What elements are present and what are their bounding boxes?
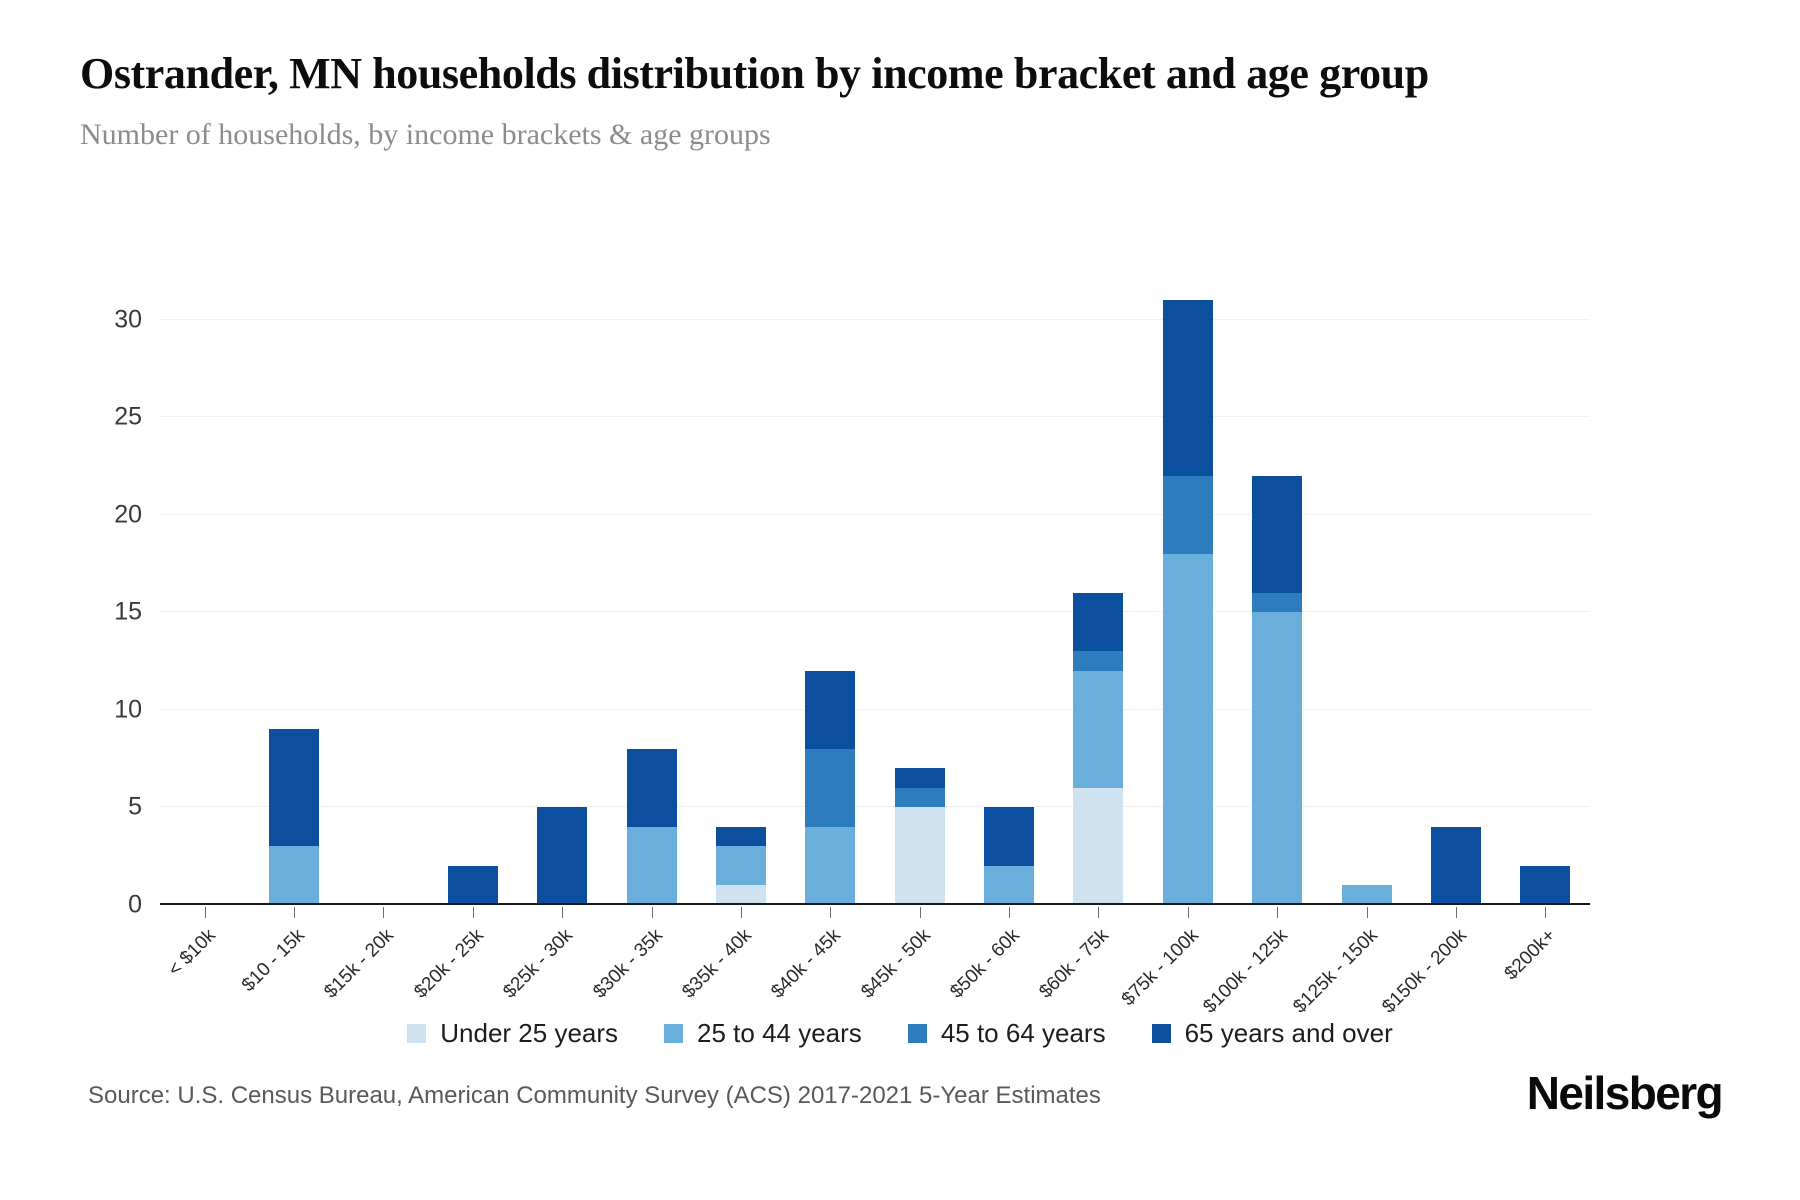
x-axis-tick-label: $200k+	[1501, 925, 1561, 985]
x-axis-tick: $30k - 35k	[607, 907, 696, 1027]
x-axis-tick: $60k - 75k	[1054, 907, 1143, 1027]
bar-slot[interactable]	[339, 300, 428, 905]
y-axis-tick-label: 20	[114, 500, 142, 529]
y-axis-tick-label: 10	[114, 695, 142, 724]
x-axis-tick: $15k - 20k	[339, 907, 428, 1027]
legend-label: 45 to 64 years	[941, 1018, 1106, 1049]
tick-mark	[1098, 907, 1099, 918]
tick-mark	[383, 907, 384, 918]
bar-segment[interactable]	[269, 729, 319, 846]
tick-mark	[652, 907, 653, 918]
bar-slot[interactable]	[1322, 300, 1411, 905]
bar-segment[interactable]	[537, 807, 587, 905]
bar-segment[interactable]	[805, 827, 855, 905]
bar-stack[interactable]	[627, 749, 677, 905]
legend-label: Under 25 years	[440, 1018, 618, 1049]
tick-mark	[294, 907, 295, 918]
y-axis-tick-label: 25	[114, 403, 142, 432]
tick-mark	[1188, 907, 1189, 918]
bar-stack[interactable]	[1431, 827, 1481, 905]
bar-segment[interactable]	[1252, 612, 1302, 905]
x-axis-line	[160, 903, 1590, 905]
bar-segment[interactable]	[269, 846, 319, 905]
bar-segment[interactable]	[1073, 788, 1123, 905]
legend-label: 25 to 44 years	[697, 1018, 862, 1049]
x-axis-tick: $200k+	[1501, 907, 1590, 1027]
plot-area: 051015202530	[160, 300, 1590, 905]
bar-slot[interactable]	[428, 300, 517, 905]
x-axis-tick: < $10k	[160, 907, 249, 1027]
tick-mark	[920, 907, 921, 918]
bar-stack[interactable]	[1073, 593, 1123, 905]
bar-segment[interactable]	[895, 788, 945, 808]
bar-segment[interactable]	[984, 866, 1034, 905]
bar-stack[interactable]	[716, 827, 766, 905]
page-title: Ostrander, MN households distribution by…	[80, 48, 1640, 100]
bar-stack[interactable]	[1520, 866, 1570, 905]
bar-segment[interactable]	[1073, 671, 1123, 788]
bar-slot[interactable]	[696, 300, 785, 905]
bar-segment[interactable]	[1073, 593, 1123, 652]
bar-segment[interactable]	[716, 846, 766, 885]
bar-segment[interactable]	[1163, 476, 1213, 554]
chart-header: Ostrander, MN households distribution by…	[80, 48, 1640, 152]
bar-stack[interactable]	[895, 768, 945, 905]
legend-item[interactable]: 45 to 64 years	[908, 1018, 1106, 1049]
legend-swatch-icon	[407, 1024, 426, 1043]
x-axis-tick: $10 - 15k	[249, 907, 338, 1027]
bar-slot[interactable]	[249, 300, 338, 905]
bar-segment[interactable]	[805, 671, 855, 749]
bar-slot[interactable]	[1143, 300, 1232, 905]
tick-mark	[830, 907, 831, 918]
x-axis-labels: < $10k$10 - 15k$15k - 20k$20k - 25k$25k …	[160, 907, 1590, 1027]
bar-stack[interactable]	[1163, 300, 1213, 905]
chart-subtitle: Number of households, by income brackets…	[80, 118, 1640, 152]
bar-segment[interactable]	[1163, 300, 1213, 476]
legend-item[interactable]: 65 years and over	[1152, 1018, 1393, 1049]
bar-stack[interactable]	[984, 807, 1034, 905]
x-axis-tick: $150k - 200k	[1411, 907, 1500, 1027]
y-axis-tick-label: 5	[128, 793, 142, 822]
bar-slot[interactable]	[607, 300, 696, 905]
legend-label: 65 years and over	[1185, 1018, 1393, 1049]
bar-segment[interactable]	[805, 749, 855, 827]
bar-slot[interactable]	[786, 300, 875, 905]
chart-legend: Under 25 years25 to 44 years45 to 64 yea…	[0, 1018, 1800, 1049]
bar-slot[interactable]	[964, 300, 1053, 905]
bar-segment[interactable]	[895, 807, 945, 905]
tick-mark	[205, 907, 206, 918]
legend-item[interactable]: 25 to 44 years	[664, 1018, 862, 1049]
bar-slot[interactable]	[160, 300, 249, 905]
bar-slot[interactable]	[518, 300, 607, 905]
tick-mark	[1545, 907, 1546, 918]
x-axis-tick: $50k - 60k	[964, 907, 1053, 1027]
bar-segment[interactable]	[1252, 476, 1302, 593]
bar-segment[interactable]	[716, 827, 766, 847]
tick-mark	[473, 907, 474, 918]
tick-mark	[741, 907, 742, 918]
bar-segment[interactable]	[627, 827, 677, 905]
bar-segment[interactable]	[1163, 554, 1213, 905]
bar-stack[interactable]	[805, 671, 855, 905]
x-axis-tick-label: $10 - 15k	[238, 925, 310, 997]
bar-slot[interactable]	[1501, 300, 1590, 905]
bar-stack[interactable]	[537, 807, 587, 905]
bar-series-group	[160, 300, 1590, 905]
bar-segment[interactable]	[984, 807, 1034, 866]
x-axis-tick: $35k - 40k	[696, 907, 785, 1027]
brand-logo: Neilsberg	[1527, 1066, 1722, 1120]
legend-swatch-icon	[908, 1024, 927, 1043]
bar-slot[interactable]	[875, 300, 964, 905]
tick-mark	[1009, 907, 1010, 918]
tick-mark	[562, 907, 563, 918]
legend-item[interactable]: Under 25 years	[407, 1018, 618, 1049]
tick-mark	[1277, 907, 1278, 918]
x-axis-tick: $20k - 25k	[428, 907, 517, 1027]
bar-segment[interactable]	[627, 749, 677, 827]
x-axis-tick: $25k - 30k	[518, 907, 607, 1027]
y-axis-tick-label: 15	[114, 598, 142, 627]
legend-swatch-icon	[664, 1024, 683, 1043]
tick-mark	[1367, 907, 1368, 918]
bar-segment[interactable]	[1431, 827, 1481, 905]
bar-segment[interactable]	[448, 866, 498, 905]
source-note: Source: U.S. Census Bureau, American Com…	[88, 1082, 1101, 1110]
bar-segment[interactable]	[1252, 593, 1302, 613]
tick-mark	[1456, 907, 1457, 918]
x-axis-tick: $40k - 45k	[786, 907, 875, 1027]
y-axis-tick-label: 0	[128, 891, 142, 920]
bar-segment[interactable]	[1520, 866, 1570, 905]
y-axis-tick-label: 30	[114, 305, 142, 334]
x-axis-tick: $45k - 50k	[875, 907, 964, 1027]
bar-slot[interactable]	[1411, 300, 1500, 905]
bar-stack[interactable]	[269, 729, 319, 905]
bar-slot[interactable]	[1233, 300, 1322, 905]
bar-slot[interactable]	[1054, 300, 1143, 905]
legend-swatch-icon	[1152, 1024, 1171, 1043]
bar-segment[interactable]	[895, 768, 945, 788]
bar-stack[interactable]	[1252, 476, 1302, 905]
bar-stack[interactable]	[448, 866, 498, 905]
bar-segment[interactable]	[1073, 651, 1123, 671]
x-axis-tick-label: < $10k	[164, 925, 220, 981]
